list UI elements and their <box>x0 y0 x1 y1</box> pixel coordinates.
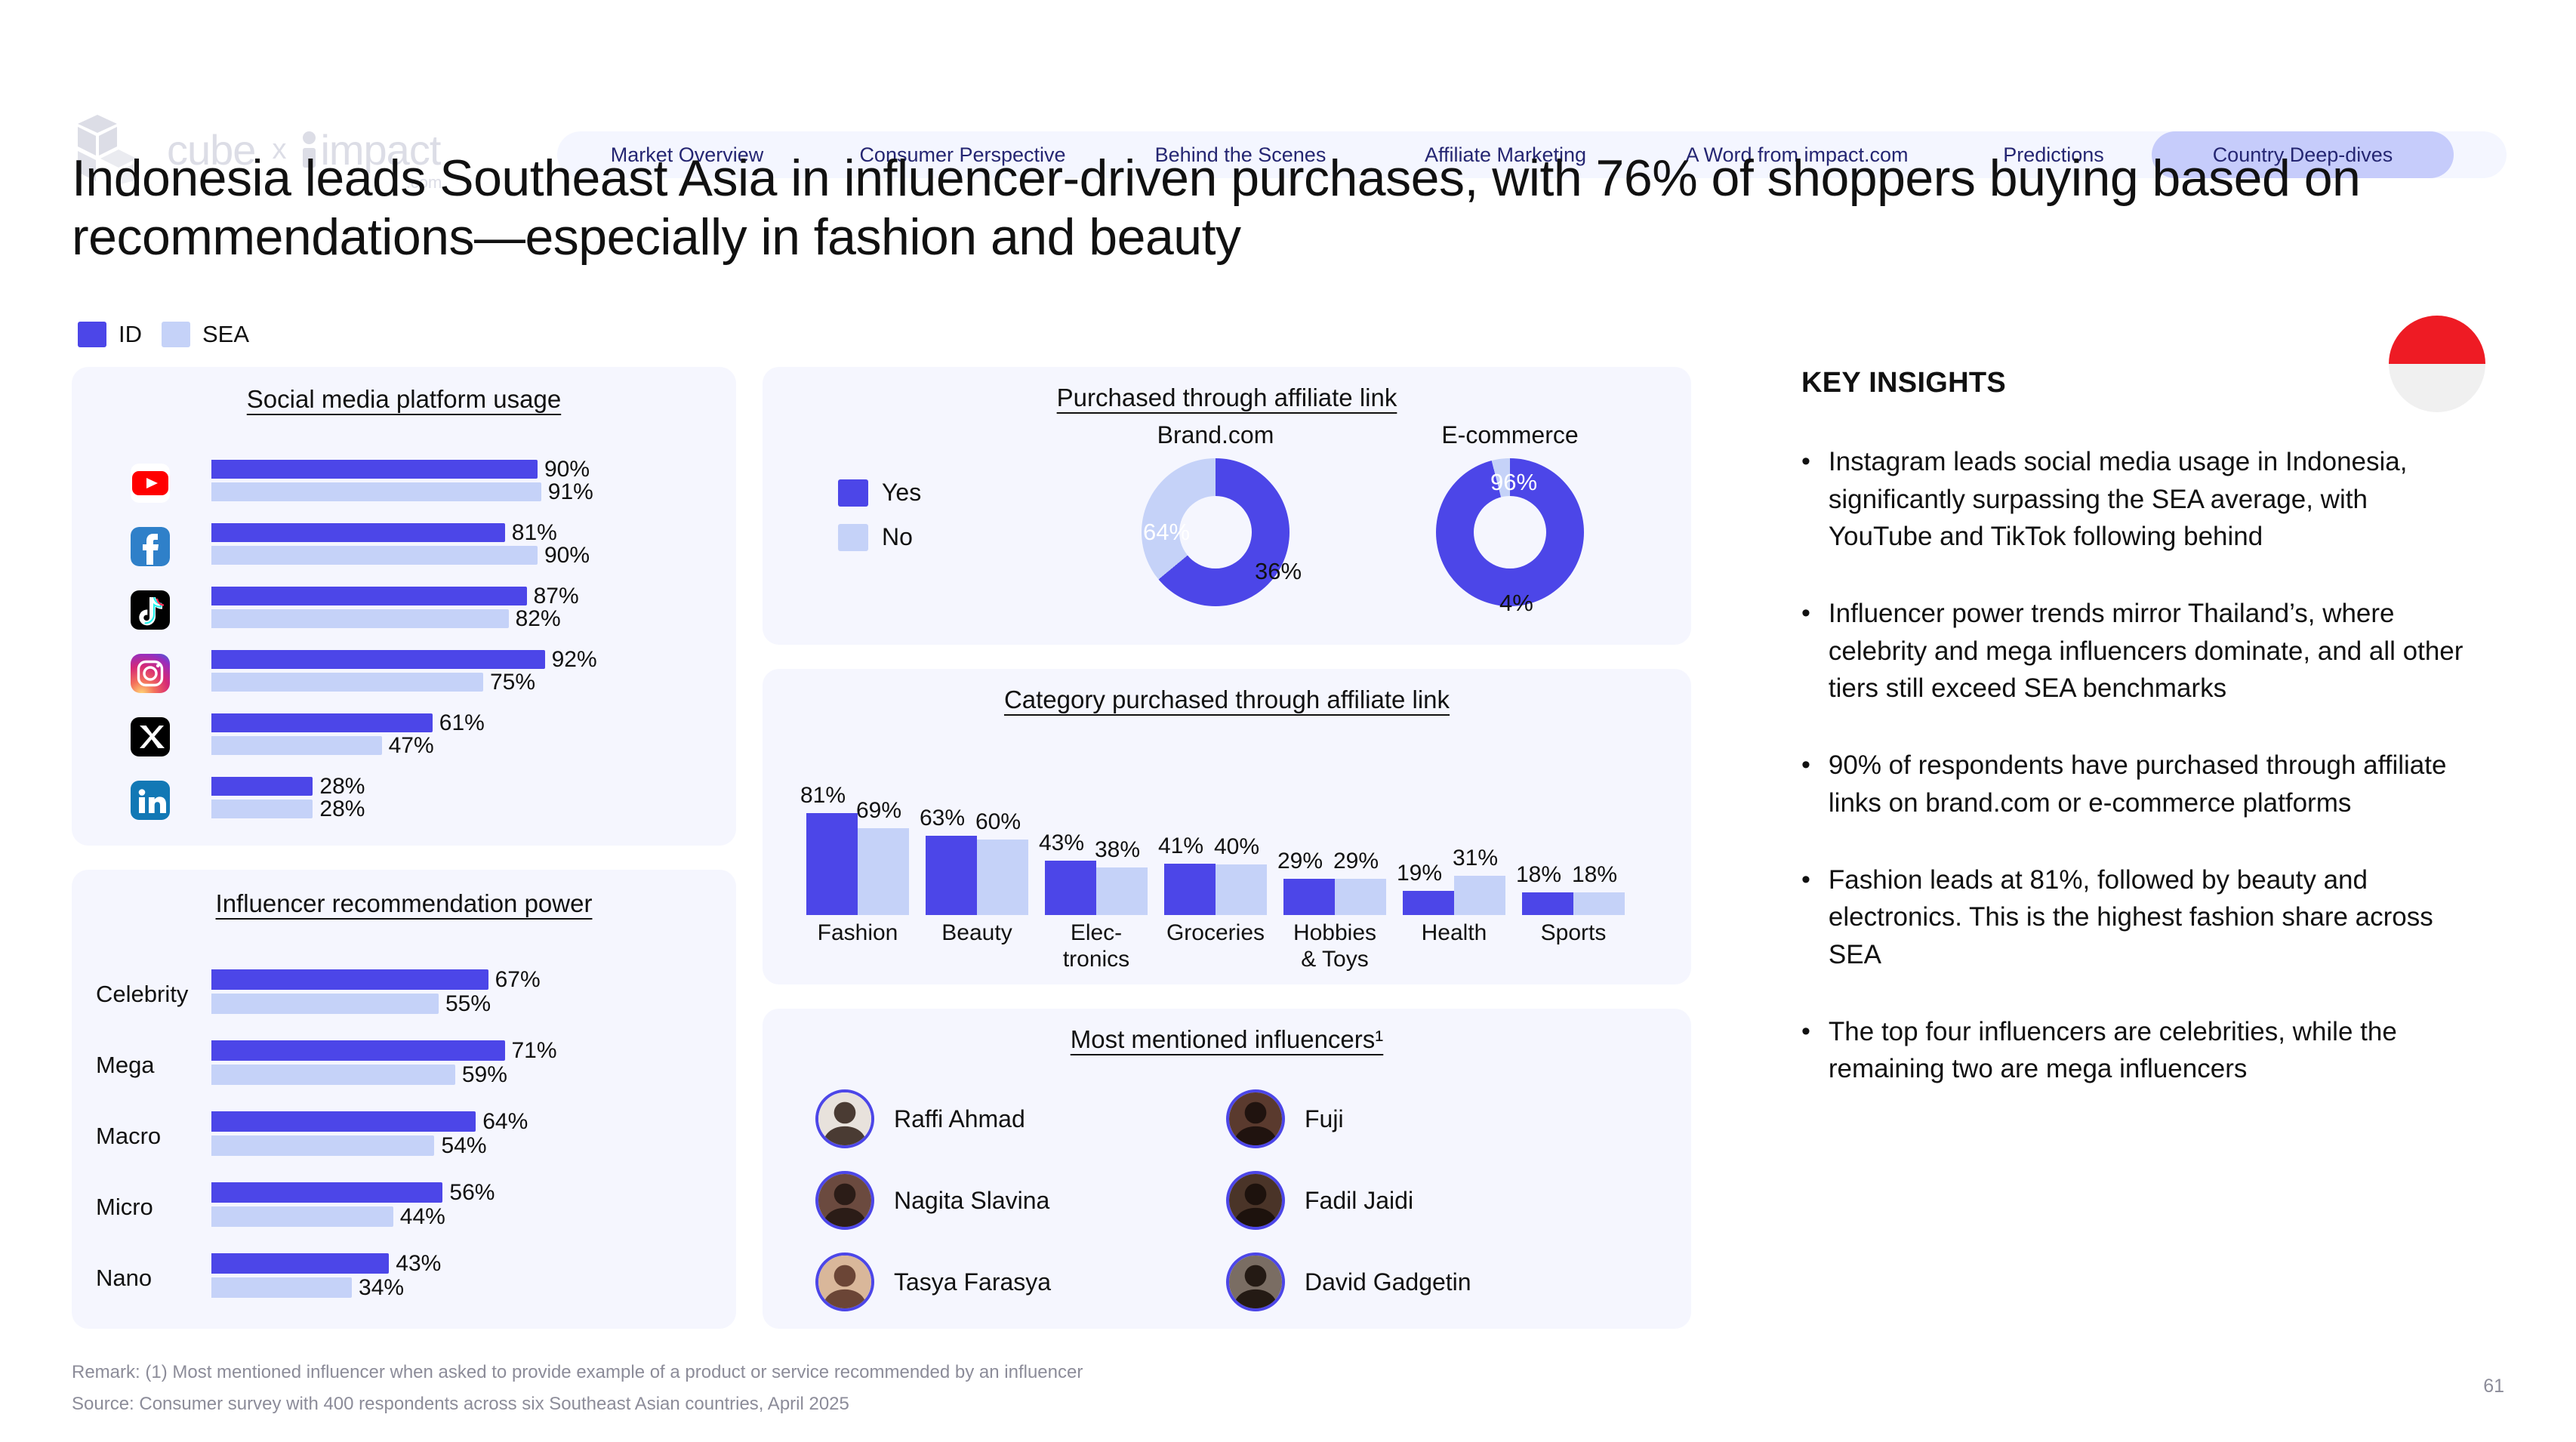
bar-fill <box>211 609 509 628</box>
bullet-icon: • <box>1801 861 1810 974</box>
social-chart-rows: 90%91%81%90%87%82%92%75%61%47%28%28% <box>72 451 736 832</box>
card-category-affiliate: Category purchased through affiliate lin… <box>763 669 1691 984</box>
bar-value-label: 47% <box>382 733 434 759</box>
key-insight-item: •Fashion leads at 81%, followed by beaut… <box>1801 861 2466 974</box>
bar-fill <box>211 1135 434 1156</box>
legend-label: ID <box>119 321 142 348</box>
card-most-mentioned: Most mentioned influencers¹ Raffi AhmadN… <box>763 1009 1691 1329</box>
bar-fill <box>211 523 505 542</box>
legend-label: SEA <box>202 321 249 348</box>
bar-id: 71% <box>211 1040 679 1061</box>
chart-title-influencer: Influencer recommendation power <box>72 870 736 918</box>
bar-id: 28% <box>211 777 679 796</box>
key-insight-text: Instagram leads social media usage in In… <box>1829 443 2466 556</box>
bar-value-label: 90% <box>538 543 590 568</box>
category-group-hobbies: 29%29%Hobbies& Toys <box>1283 802 1386 915</box>
footer: Remark: (1) Most mentioned influencer wh… <box>72 1357 1083 1420</box>
bar-id <box>806 813 858 915</box>
bullet-icon: • <box>1801 443 1810 556</box>
bar-value-label: 59% <box>455 1062 507 1088</box>
bar-value-label: 28% <box>313 774 365 800</box>
influencer-name: Fuji <box>1305 1105 1344 1133</box>
chart-title-donut: Purchased through affiliate link <box>763 367 1691 412</box>
bar-fill <box>211 736 382 755</box>
category-axis-label: Elec-tronics <box>1032 920 1160 972</box>
header: cube x impact .com Market OverviewConsum… <box>0 54 2576 122</box>
influencer-list-item: Tasya Farasya <box>815 1241 1208 1323</box>
donut-slice-label-yes: 64% <box>1143 519 1190 546</box>
donut-ring: 96%4% <box>1436 458 1584 606</box>
avatar <box>815 1171 874 1230</box>
category-axis-label: Health <box>1390 920 1518 946</box>
donut-slice-label-no: 36% <box>1255 558 1302 585</box>
category-bar-pair <box>1283 802 1386 915</box>
bar-fill <box>211 969 488 990</box>
key-insight-text: Fashion leads at 81%, followed by beauty… <box>1829 861 2466 974</box>
bar-id <box>926 836 977 915</box>
key-insight-item: •90% of respondents have purchased throu… <box>1801 747 2466 821</box>
bar-value-label: 54% <box>434 1133 486 1159</box>
influencer-tier-label: Nano <box>96 1265 152 1292</box>
bar-sea <box>1573 892 1625 915</box>
footer-source: Source: Consumer survey with 400 respond… <box>72 1388 1083 1420</box>
bar-value-label: 44% <box>393 1204 445 1230</box>
x-icon <box>131 717 170 756</box>
bar-fill <box>211 1253 389 1274</box>
bar-value-label: 87% <box>527 584 579 609</box>
bar-sea: 90% <box>211 546 679 565</box>
category-axis-label: Hobbies& Toys <box>1271 920 1399 972</box>
bar-fill <box>211 800 313 818</box>
bullet-icon: • <box>1801 747 1810 821</box>
social-row-tiktok: 87%82% <box>72 578 736 642</box>
indonesia-flag-icon <box>2389 316 2485 412</box>
bar-sea: 28% <box>211 800 679 818</box>
legend-label: No <box>882 523 913 551</box>
bar-value-label: 82% <box>509 606 561 632</box>
card-purchased-affiliate: Purchased through affiliate link YesNo B… <box>763 367 1691 645</box>
most-mentioned-title: Most mentioned influencers¹ <box>763 1009 1691 1054</box>
legend-label: Yes <box>882 479 921 507</box>
bar-value-label: 43% <box>389 1251 441 1277</box>
bar-sea: 54% <box>211 1135 679 1156</box>
legend-swatch <box>162 322 190 347</box>
influencer-name: Raffi Ahmad <box>894 1105 1025 1133</box>
bar-sea <box>858 828 909 915</box>
category-group-sports: 18%18%Sports <box>1522 802 1625 915</box>
bar-fill <box>211 673 483 692</box>
bar-fill <box>211 587 527 605</box>
key-insight-item: •The top four influencers are celebritie… <box>1801 1013 2466 1088</box>
donut-legend-yes: Yes <box>838 479 921 507</box>
donut-hole <box>1179 496 1252 568</box>
bar-fill <box>211 1040 505 1061</box>
influencer-list-item: David Gadgetin <box>1226 1241 1619 1323</box>
bar-id: 64% <box>211 1111 679 1132</box>
category-group-groceries: 41%40%Groceries <box>1164 802 1267 915</box>
bar-fill <box>211 1206 393 1227</box>
bar-value-label: 61% <box>433 710 485 736</box>
bar-id: 43% <box>211 1253 679 1274</box>
influencer-bar-pair: 56%44% <box>211 1182 679 1227</box>
category-plot: 81%69%Fashion63%60%Beauty43%38%Elec-tron… <box>806 802 1652 915</box>
bar-id: 87% <box>211 587 679 605</box>
bar-sea: 59% <box>211 1065 679 1085</box>
influencer-row-mega: Mega71%59% <box>72 1030 736 1101</box>
bar-id: 92% <box>211 650 679 669</box>
social-row-youtube: 90%91% <box>72 451 736 515</box>
bar-value-label: 81% <box>505 520 557 546</box>
legend-swatch <box>78 322 106 347</box>
legend-swatch <box>838 479 868 507</box>
avatar <box>1226 1089 1285 1148</box>
bar-sea <box>977 840 1028 915</box>
donut-legend: YesNo <box>838 479 921 568</box>
influencer-tier-label: Mega <box>96 1052 155 1079</box>
bar-value-label: 34% <box>352 1275 404 1301</box>
bar-sea: 55% <box>211 994 679 1014</box>
bar-value-label: 91% <box>541 479 593 505</box>
influencer-name: Tasya Farasya <box>894 1268 1051 1296</box>
bar-value-label: 71% <box>505 1038 557 1064</box>
influencer-chart-rows: Celebrity67%55%Mega71%59%Macro64%54%Micr… <box>72 959 736 1314</box>
avatar <box>815 1089 874 1148</box>
bullet-icon: • <box>1801 595 1810 707</box>
avatar <box>1226 1171 1285 1230</box>
legend-swatch <box>838 524 868 551</box>
category-axis-label: Sports <box>1509 920 1638 946</box>
social-row-facebook: 81%90% <box>72 515 736 578</box>
bar-fill <box>211 482 541 501</box>
key-insight-text: The top four influencers are celebrities… <box>1829 1013 2466 1088</box>
influencer-tier-label: Celebrity <box>96 981 188 1008</box>
bullet-icon: • <box>1801 1013 1810 1088</box>
category-bar-pair <box>1164 802 1267 915</box>
bar-sea: 82% <box>211 609 679 628</box>
category-axis-label: Fashion <box>793 920 922 946</box>
key-insights-list: •Instagram leads social media usage in I… <box>1801 443 2466 1088</box>
bar-fill <box>211 994 439 1014</box>
youtube-icon <box>131 464 170 503</box>
bar-sea: 34% <box>211 1277 679 1298</box>
bar-id: 61% <box>211 713 679 732</box>
influencer-list-item: Raffi Ahmad <box>815 1078 1208 1160</box>
bar-fill <box>211 650 545 669</box>
slide-root: cube x impact .com Market OverviewConsum… <box>0 0 2576 1442</box>
social-row-instagram: 92%75% <box>72 642 736 705</box>
donut-ring: 64%36% <box>1142 458 1290 606</box>
bar-fill <box>211 1182 442 1203</box>
donut-legend-no: No <box>838 523 921 551</box>
donut-name: E-commerce <box>1412 421 1608 449</box>
bar-sea <box>1216 864 1267 915</box>
bar-sea <box>1335 879 1386 915</box>
donut-e-commerce: E-commerce96%4% <box>1412 421 1608 606</box>
donut-slice-label-yes: 96% <box>1490 469 1537 496</box>
category-group-health: 19%31%Health <box>1403 802 1505 915</box>
bar-fill <box>211 1065 455 1085</box>
flag-red-band <box>2389 316 2485 364</box>
social-bar-pair: 90%91% <box>211 460 679 501</box>
category-axis-label: Beauty <box>913 920 1041 946</box>
category-bar-pair <box>806 802 909 915</box>
social-bar-pair: 87%82% <box>211 587 679 628</box>
social-bar-pair: 28%28% <box>211 777 679 818</box>
influencer-tier-label: Macro <box>96 1123 161 1150</box>
instagram-icon <box>131 654 170 693</box>
bar-value-label: 56% <box>442 1180 495 1206</box>
bar-value-label: 75% <box>483 670 535 695</box>
bar-id: 56% <box>211 1182 679 1203</box>
category-group-beauty: 63%60%Beauty <box>926 802 1028 915</box>
influencer-list-item: Nagita Slavina <box>815 1160 1208 1241</box>
donut-slice-label-no: 4% <box>1499 590 1533 617</box>
bar-id <box>1045 861 1096 915</box>
card-influencer-power: Influencer recommendation power Celebrit… <box>72 870 736 1329</box>
category-bar-pair <box>1045 802 1148 915</box>
category-group-elec-: 43%38%Elec-tronics <box>1045 802 1148 915</box>
bar-sea <box>1096 867 1148 915</box>
influencer-name: Fadil Jaidi <box>1305 1187 1413 1215</box>
influencer-row-micro: Micro56%44% <box>72 1172 736 1243</box>
bar-id: 81% <box>211 523 679 542</box>
influencer-bar-pair: 43%34% <box>211 1253 679 1298</box>
donut-hole <box>1474 496 1546 568</box>
donut-name: Brand.com <box>1117 421 1314 449</box>
bar-value-label: 64% <box>476 1109 528 1135</box>
category-axis-label: Groceries <box>1151 920 1280 946</box>
bar-fill <box>211 1111 476 1132</box>
bar-id <box>1164 864 1216 915</box>
series-legend: IDSEA <box>78 321 249 348</box>
influencer-list-item: Fadil Jaidi <box>1226 1160 1619 1241</box>
card-social-media-usage: Social media platform usage 90%91%81%90%… <box>72 367 736 846</box>
bar-sea: 47% <box>211 736 679 755</box>
influencer-name: David Gadgetin <box>1305 1268 1471 1296</box>
influencer-bar-pair: 71%59% <box>211 1040 679 1085</box>
page-title: Indonesia leads Southeast Asia in influe… <box>72 149 2518 267</box>
social-bar-pair: 81%90% <box>211 523 679 565</box>
bar-value-label: 67% <box>488 967 541 993</box>
legend-item-id: ID <box>78 321 142 348</box>
key-insights-panel: KEY INSIGHTS •Instagram leads social med… <box>1801 367 2466 1127</box>
bar-fill <box>211 777 313 796</box>
category-group-fashion: 81%69%Fashion <box>806 802 909 915</box>
avatar <box>815 1253 874 1311</box>
most-mentioned-column: Raffi AhmadNagita SlavinaTasya Farasya <box>815 1078 1208 1323</box>
bar-id <box>1522 892 1573 915</box>
bar-sea <box>1454 876 1505 915</box>
key-insight-text: Influencer power trends mirror Thailand’… <box>1829 595 2466 707</box>
key-insights-heading: KEY INSIGHTS <box>1801 367 2466 399</box>
category-bar-pair <box>1522 802 1625 915</box>
bar-fill <box>211 460 538 479</box>
category-bar-pair <box>926 802 1028 915</box>
bar-sea: 91% <box>211 482 679 501</box>
influencer-list-item: Fuji <box>1226 1078 1619 1160</box>
bar-fill <box>211 1277 352 1298</box>
chart-title-social: Social media platform usage <box>72 367 736 414</box>
bar-value-label: 55% <box>439 991 491 1017</box>
bar-fill <box>211 713 433 732</box>
influencer-tier-label: Micro <box>96 1194 153 1221</box>
influencer-bar-pair: 64%54% <box>211 1111 679 1156</box>
bar-id: 67% <box>211 969 679 990</box>
bar-id: 90% <box>211 460 679 479</box>
social-row-x: 61%47% <box>72 705 736 769</box>
tiktok-icon <box>131 590 170 630</box>
bar-sea: 75% <box>211 673 679 692</box>
bar-id <box>1403 891 1454 915</box>
bar-value-label: 90% <box>538 457 590 482</box>
bar-sea: 44% <box>211 1206 679 1227</box>
influencer-name: Nagita Slavina <box>894 1187 1049 1215</box>
social-bar-pair: 92%75% <box>211 650 679 692</box>
influencer-bar-pair: 67%55% <box>211 969 679 1014</box>
chart-title-category: Category purchased through affiliate lin… <box>763 669 1691 714</box>
avatar <box>1226 1253 1285 1311</box>
key-insight-item: •Influencer power trends mirror Thailand… <box>1801 595 2466 707</box>
key-insight-text: 90% of respondents have purchased throug… <box>1829 747 2466 821</box>
linkedin-icon <box>131 781 170 820</box>
category-bar-pair <box>1403 802 1505 915</box>
key-insight-item: •Instagram leads social media usage in I… <box>1801 443 2466 556</box>
bar-value-label: 28% <box>313 796 365 822</box>
donut-brand-com: Brand.com64%36% <box>1117 421 1314 606</box>
bar-fill <box>211 546 538 565</box>
influencer-row-nano: Nano43%34% <box>72 1243 736 1314</box>
bar-id <box>1283 879 1335 915</box>
bar-value-label: 92% <box>545 647 597 673</box>
influencer-row-macro: Macro64%54% <box>72 1101 736 1172</box>
footer-remark: Remark: (1) Most mentioned influencer wh… <box>72 1357 1083 1388</box>
social-row-linkedin: 28%28% <box>72 769 736 832</box>
page-number: 61 <box>2483 1376 2504 1397</box>
facebook-icon <box>131 527 170 566</box>
legend-item-sea: SEA <box>162 321 249 348</box>
most-mentioned-column: FujiFadil JaidiDavid Gadgetin <box>1226 1078 1619 1323</box>
social-bar-pair: 61%47% <box>211 713 679 755</box>
influencer-row-celebrity: Celebrity67%55% <box>72 959 736 1030</box>
